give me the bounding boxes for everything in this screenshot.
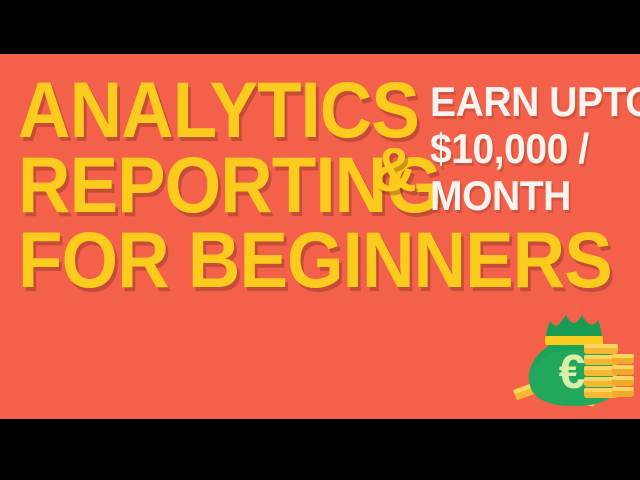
headline-line-1: ANALYTICS xyxy=(18,72,496,147)
thumbnail-image: ANALYTICS REPORTING FOR BEGINNERS & EARN… xyxy=(0,0,640,480)
badge-line-1: EARN UPTO xyxy=(430,78,623,125)
letterbox-bar-top xyxy=(0,0,640,54)
badge-line-2: $10,000 / xyxy=(430,125,623,172)
earnings-badge: EARN UPTO $10,000 / MONTH xyxy=(430,78,638,219)
letterbox-bar-bottom xyxy=(0,419,640,480)
headline-line-2: REPORTING xyxy=(18,147,496,222)
euro-symbol: € xyxy=(559,346,586,399)
ampersand-glyph: & xyxy=(372,140,417,202)
headline-line-3: FOR BEGINNERS xyxy=(18,222,496,297)
money-bag-icon: € xyxy=(512,310,636,410)
badge-line-3: MONTH xyxy=(430,172,623,219)
thumbnail-canvas: ANALYTICS REPORTING FOR BEGINNERS & EARN… xyxy=(0,54,640,419)
coin-stack-icon xyxy=(584,344,634,398)
